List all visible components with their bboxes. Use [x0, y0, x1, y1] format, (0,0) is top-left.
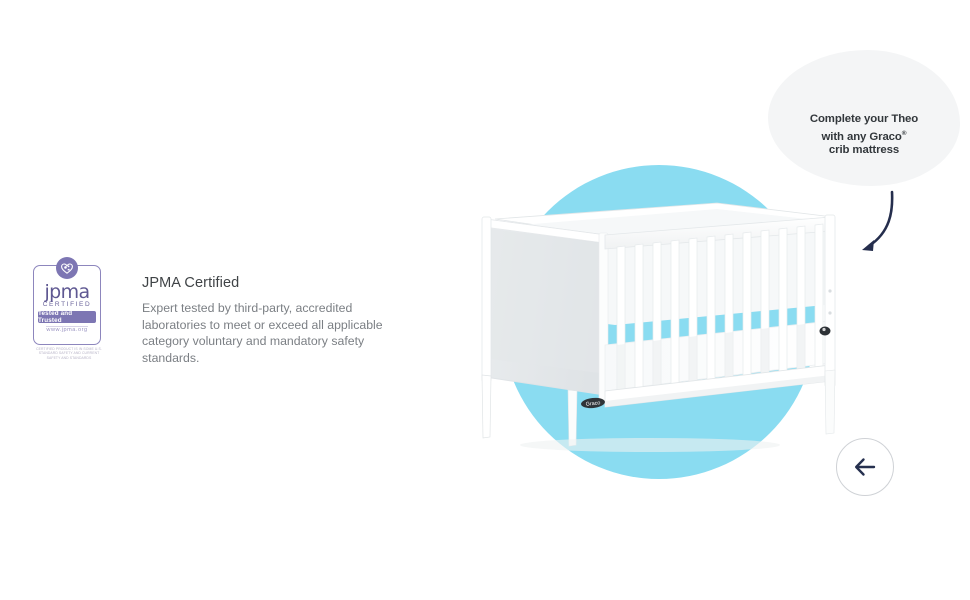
jpma-wordmark: jpma: [34, 283, 100, 302]
jpma-certification-block: jpma CERTIFIED Tested and Trusted www.jp…: [30, 263, 410, 373]
jpma-text-group: JPMA Certified Expert tested by third-pa…: [142, 275, 410, 366]
callout-line-1: Complete your Theo: [768, 113, 960, 127]
jpma-badge-shield: jpma CERTIFIED Tested and Trusted www.jp…: [33, 265, 101, 345]
callout-line-3: crib mattress: [768, 144, 960, 158]
jpma-certified-badge: jpma CERTIFIED Tested and Trusted www.jp…: [30, 263, 108, 363]
jpma-heart-icon: [56, 257, 78, 279]
mattress-upsell-callout: Complete your Theo with any Graco® crib …: [768, 50, 960, 186]
curved-down-arrow-icon: [852, 188, 916, 260]
jpma-fine-print: CERTIFIED PRODUCT IS IN SOME U.S. STANDA…: [32, 347, 106, 360]
arrow-left-icon: [851, 453, 879, 481]
jpma-certified-label: CERTIFIED: [34, 301, 100, 308]
callout-line-2-text: with any Graco: [822, 130, 902, 142]
product-image-crib[interactable]: Graco: [465, 195, 845, 455]
jpma-tested-trusted-banner: Tested and Trusted: [38, 311, 96, 323]
callout-line-2: with any Graco®: [768, 127, 960, 144]
jpma-url: www.jpma.org: [34, 327, 100, 333]
product-gallery-panel: jpma CERTIFIED Tested and Trusted www.jp…: [0, 0, 970, 600]
previous-image-button[interactable]: [836, 438, 894, 496]
registered-mark: ®: [902, 130, 907, 137]
jpma-heading: JPMA Certified: [142, 275, 410, 291]
jpma-description: Expert tested by third-party, accredited…: [142, 300, 410, 366]
callout-text: Complete your Theo with any Graco® crib …: [768, 113, 960, 158]
